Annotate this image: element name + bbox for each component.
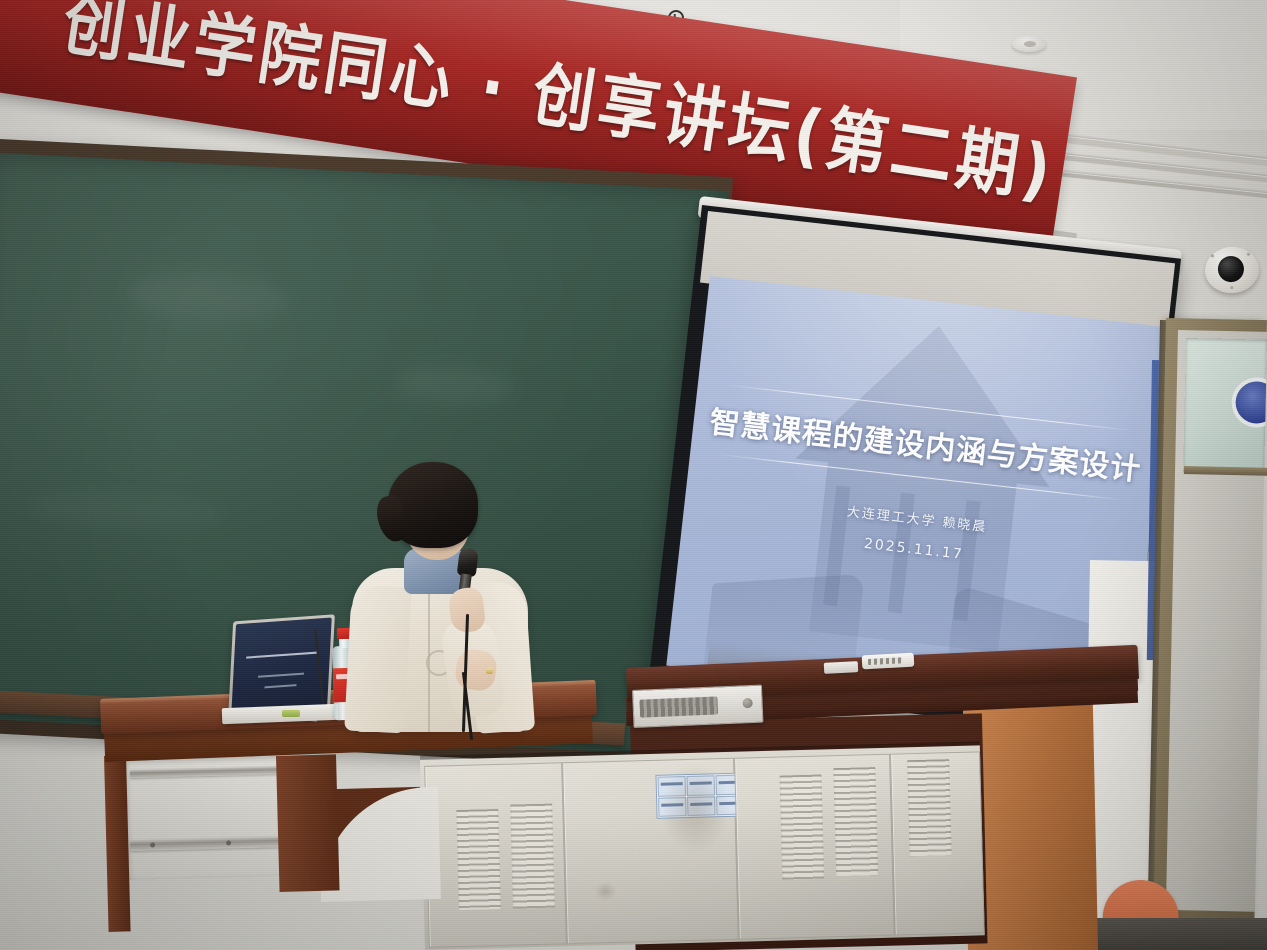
desk-leg	[104, 755, 131, 932]
tablet-title-line	[246, 652, 319, 659]
presenter	[330, 462, 560, 732]
tablet-screen	[231, 618, 332, 717]
rail-screw	[226, 840, 231, 845]
cabinet-door[interactable]	[424, 762, 567, 948]
camera-screw	[1211, 254, 1214, 257]
keyboard-drawer[interactable]	[632, 685, 763, 728]
camera-lens-icon	[1217, 255, 1245, 283]
door-window	[1183, 338, 1267, 474]
tablet-subtitle-line	[258, 673, 304, 678]
cabinet-door[interactable]	[734, 754, 895, 940]
remote-control[interactable]	[862, 653, 915, 670]
louver-vent	[833, 767, 878, 876]
louver-vent	[510, 804, 555, 909]
camera-screw	[1230, 286, 1233, 289]
tablet-date-line	[264, 685, 297, 689]
desk-support-panel	[276, 754, 340, 892]
camera-screw	[1247, 253, 1250, 256]
chalk-smudge	[26, 485, 228, 535]
smoke-detector-icon	[1012, 36, 1046, 52]
left-shoulder	[344, 585, 412, 734]
drawer-knob[interactable]	[742, 698, 752, 708]
keyboard-icon	[639, 696, 718, 717]
rail-screw	[150, 842, 155, 847]
equipment-cabinet	[420, 745, 985, 950]
cabinet-door[interactable]	[890, 751, 985, 935]
louver-vent	[456, 809, 501, 910]
cabinet-door[interactable]	[562, 758, 739, 944]
louver-vent	[780, 774, 825, 879]
cabinet-scuff	[594, 882, 616, 901]
finger-ring	[486, 668, 493, 674]
microphone-head	[457, 547, 479, 577]
chalk-smudge	[393, 364, 515, 406]
louver-vent	[907, 759, 951, 856]
lecture-hall-scene: 创业学院同心 · 创享讲坛(第二期) 智慧课程的建设内涵与方案设计 大连理工大学…	[0, 0, 1267, 950]
wall-clock-icon	[1235, 381, 1267, 424]
green-marker-object	[282, 710, 300, 717]
chalk-smudge	[127, 270, 289, 324]
remote-control-secondary[interactable]	[824, 661, 859, 674]
